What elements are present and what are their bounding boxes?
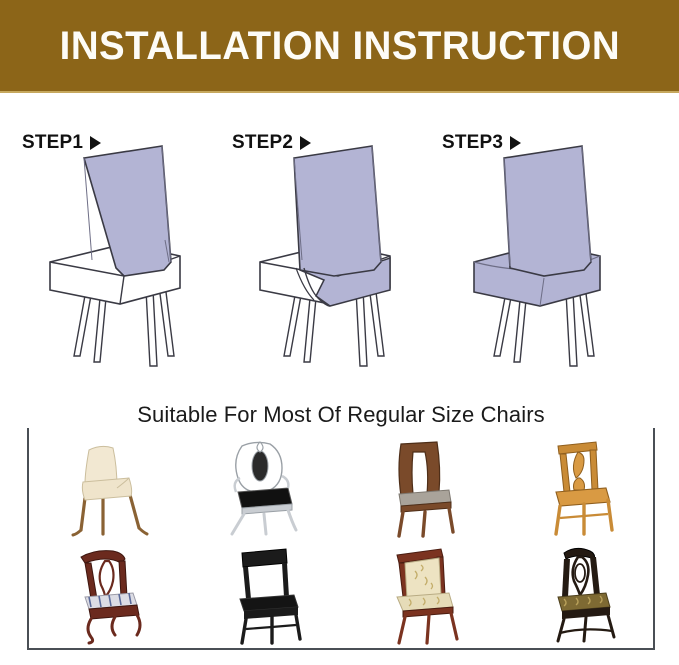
header-banner: INSTALLATION INSTRUCTION xyxy=(0,0,679,93)
chair-thumb-silver-ornate-black-seat xyxy=(184,435,341,542)
chair-thumb-cream-upholstered xyxy=(27,435,184,542)
mahogany-chippendale-chair-icon xyxy=(51,545,161,645)
step-3: STEP3 xyxy=(424,96,650,386)
step-2-illustration xyxy=(238,140,418,370)
step-3-illustration xyxy=(448,140,628,370)
step-1-illustration xyxy=(28,140,208,370)
chair-thumb-mahogany-chippendale xyxy=(27,542,184,649)
cream-upholstered-chair-icon xyxy=(51,438,161,538)
chair-thumb-black-leather xyxy=(184,542,341,649)
page-title: INSTALLATION INSTRUCTION xyxy=(59,24,619,69)
chair-thumb-mahogany-floral xyxy=(341,542,498,649)
chair-thumb-victorian-tapestry xyxy=(498,542,655,649)
golden-oak-chair-icon xyxy=(522,438,632,538)
step-1: STEP1 xyxy=(4,96,230,386)
chair-examples-grid xyxy=(27,435,655,648)
steps-row: STEP1 STEP2 xyxy=(0,96,679,386)
step-2: STEP2 xyxy=(214,96,440,386)
panel-border-bottom xyxy=(27,648,655,650)
chair-thumb-golden-oak xyxy=(498,435,655,542)
suitable-chairs-panel: Suitable For Most Of Regular Size Chairs xyxy=(27,413,655,650)
victorian-tapestry-chair-icon xyxy=(522,545,632,645)
silver-ornate-chair-icon xyxy=(208,438,318,538)
suitable-panel-title: Suitable For Most Of Regular Size Chairs xyxy=(27,402,655,428)
black-chair-leather-seat-icon xyxy=(208,545,318,645)
mahogany-floral-chair-icon xyxy=(365,545,475,645)
chair-thumb-darkwood-gray-seat xyxy=(341,435,498,542)
darkwood-chair-gray-seat-icon xyxy=(365,438,475,538)
